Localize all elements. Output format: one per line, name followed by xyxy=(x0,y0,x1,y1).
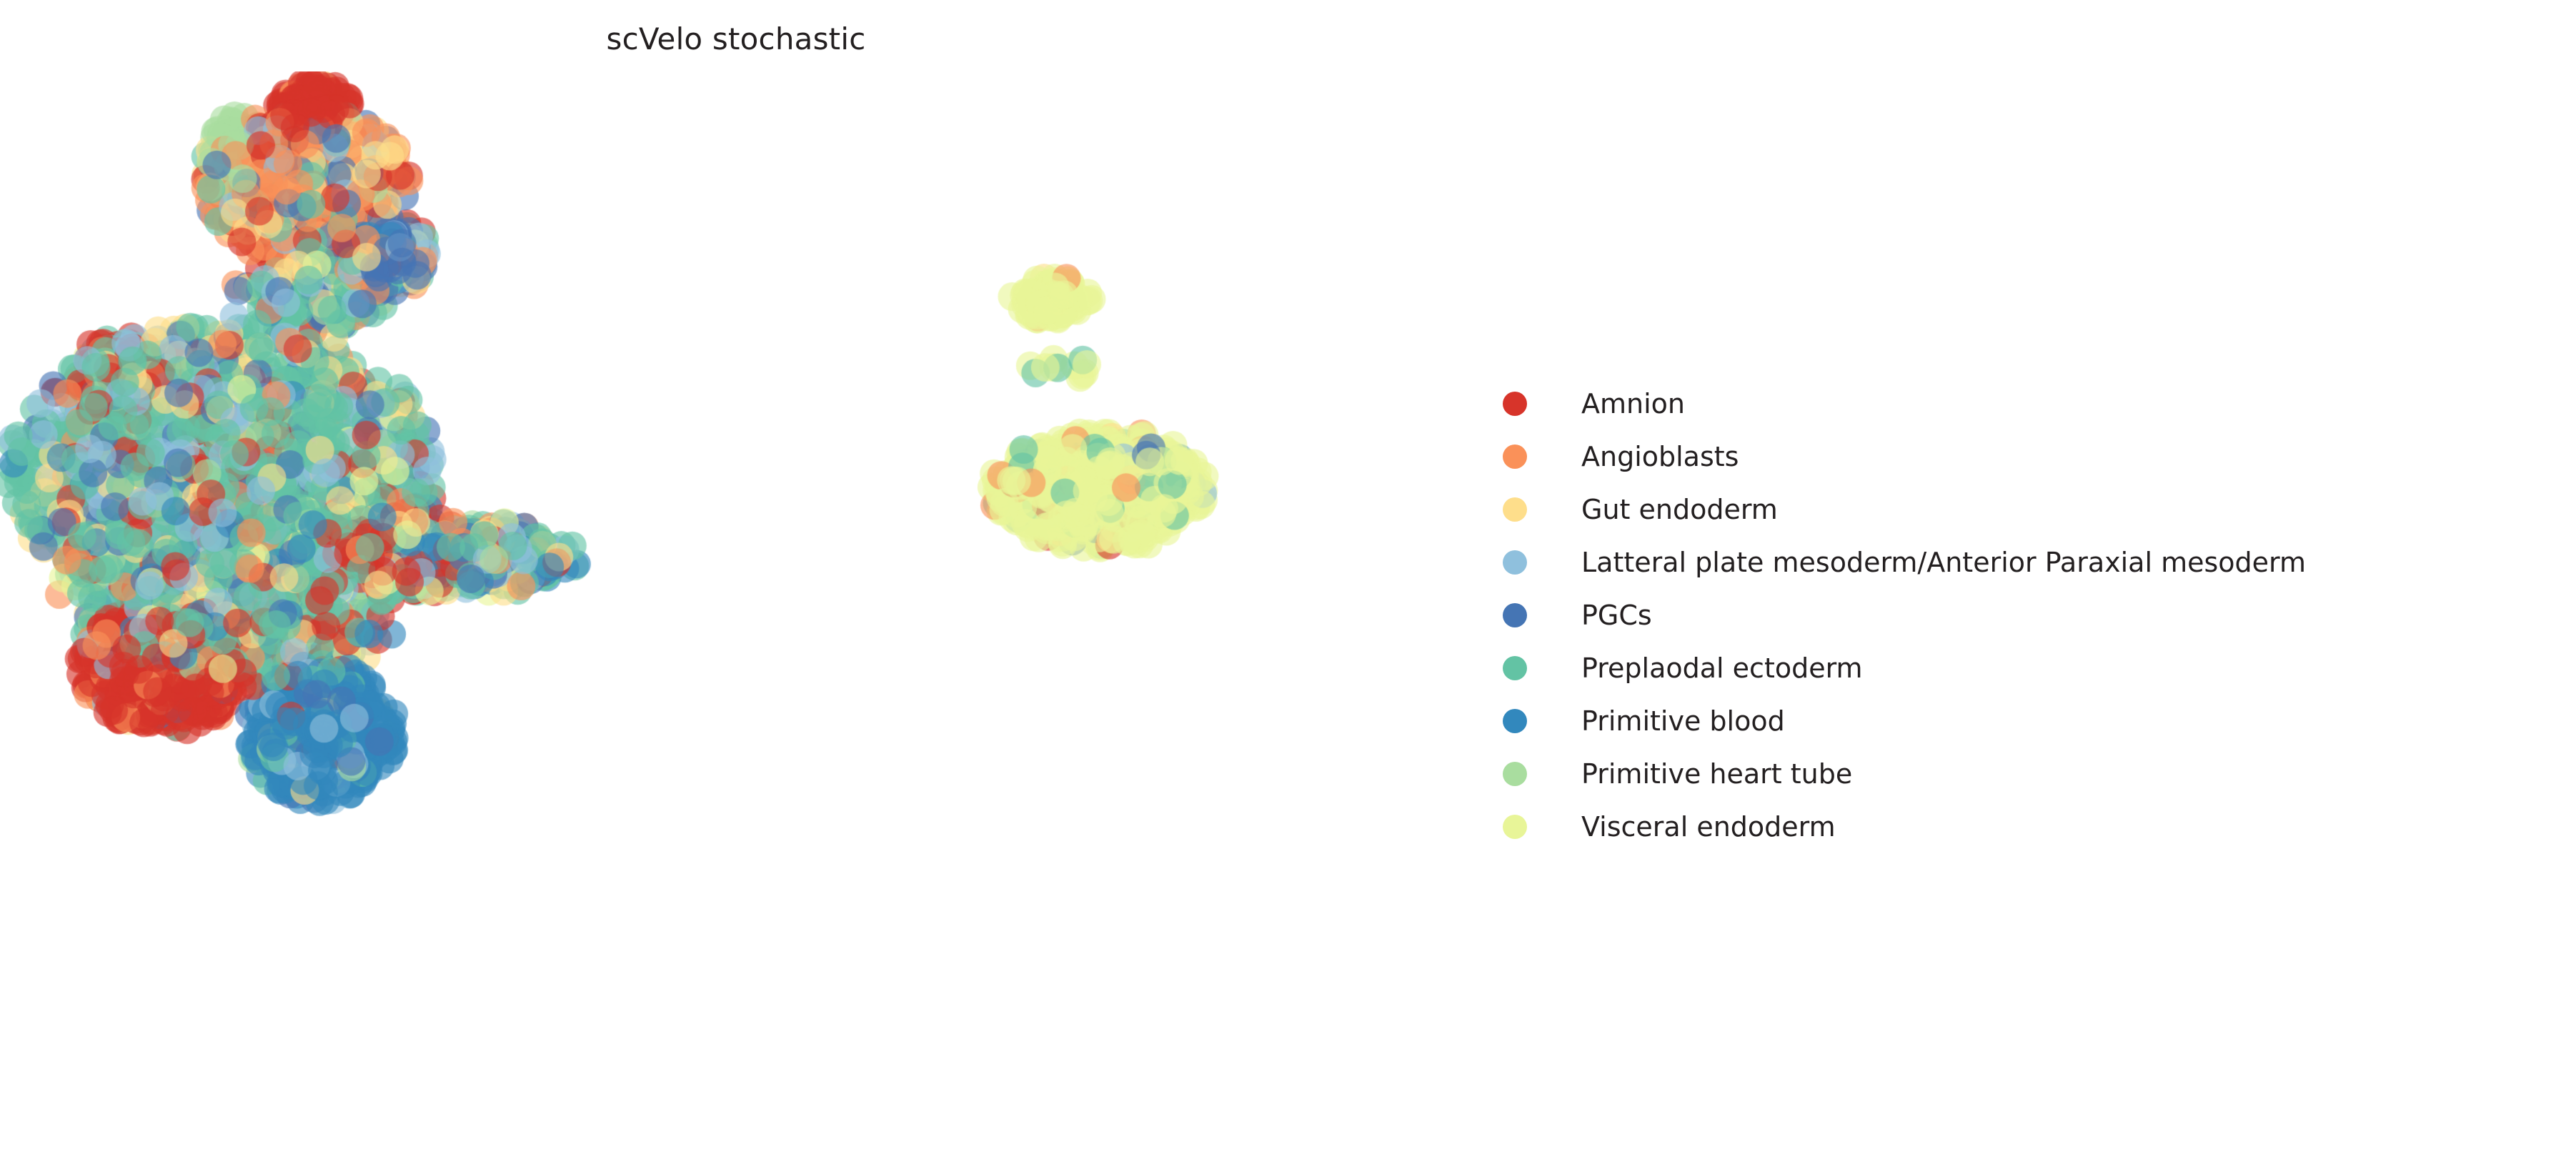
legend-color-swatch-icon xyxy=(1503,550,1527,575)
legend-item-label: Amnion xyxy=(1581,390,1685,417)
legend-item-label: PGCs xyxy=(1581,602,1652,629)
legend-color-swatch-icon xyxy=(1503,392,1527,416)
legend-item-label: Primitive heart tube xyxy=(1581,760,1852,788)
legend-color-swatch-icon xyxy=(1503,656,1527,680)
legend-item[interactable]: Latteral plate mesoderm/Anterior Paraxia… xyxy=(1490,536,2562,589)
scatter-plot-area xyxy=(0,71,1472,1143)
legend-item-label: Latteral plate mesoderm/Anterior Paraxia… xyxy=(1581,549,2306,576)
umap-scatter-canvas xyxy=(0,71,1472,1143)
page-title: scVelo stochastic xyxy=(0,21,1472,56)
legend-item[interactable]: Primitive blood xyxy=(1490,695,2562,748)
legend-item[interactable]: Primitive heart tube xyxy=(1490,748,2562,800)
legend-item[interactable]: Amnion xyxy=(1490,377,2562,430)
legend-item-label: Angioblasts xyxy=(1581,443,1739,470)
legend: AmnionAngioblastsGut endodermLatteral pl… xyxy=(1490,377,2562,853)
legend-color-swatch-icon xyxy=(1503,709,1527,733)
legend-item[interactable]: Visceral endoderm xyxy=(1490,800,2562,853)
legend-color-swatch-icon xyxy=(1503,762,1527,786)
legend-item[interactable]: Gut endoderm xyxy=(1490,483,2562,536)
legend-item-label: Primitive blood xyxy=(1581,707,1785,735)
legend-color-swatch-icon xyxy=(1503,603,1527,627)
legend-item-label: Gut endoderm xyxy=(1581,496,1778,523)
legend-color-swatch-icon xyxy=(1503,445,1527,469)
legend-color-swatch-icon xyxy=(1503,497,1527,522)
scvelo-figure: scVelo stochastic AmnionAngioblastsGut e… xyxy=(0,0,2576,1167)
legend-item[interactable]: Preplaodal ectoderm xyxy=(1490,642,2562,695)
legend-item-label: Preplaodal ectoderm xyxy=(1581,655,1863,682)
legend-item-label: Visceral endoderm xyxy=(1581,813,1836,840)
legend-item[interactable]: Angioblasts xyxy=(1490,430,2562,483)
legend-color-swatch-icon xyxy=(1503,815,1527,839)
legend-item[interactable]: PGCs xyxy=(1490,589,2562,642)
